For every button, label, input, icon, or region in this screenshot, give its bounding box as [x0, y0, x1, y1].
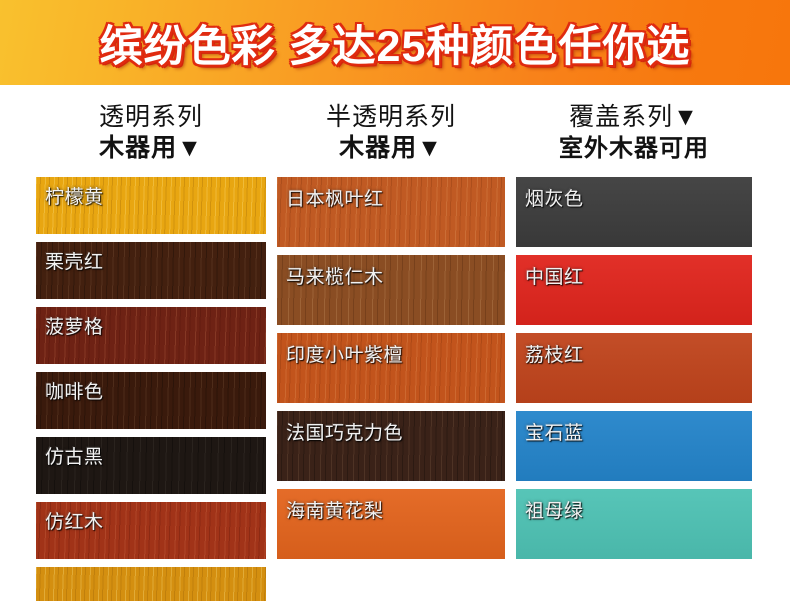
color-swatch[interactable]: 海南黄花梨 — [277, 489, 505, 559]
color-swatch[interactable]: 印度小叶紫檀 — [277, 333, 505, 403]
column-3-heading: 覆盖系列▼ 室外木器可用 — [516, 85, 752, 164]
column-1-heading: 透明系列 木器用▼ — [36, 85, 266, 164]
color-swatch-label: 仿古黑 — [45, 442, 104, 469]
color-swatch-label: 栗壳红 — [45, 247, 104, 274]
color-swatch-label: 中国红 — [525, 262, 584, 289]
color-swatch[interactable]: 荔枝红 — [516, 333, 752, 403]
color-swatch-label: 菠萝格 — [45, 312, 104, 339]
column-1-swatch-list: 柠檬黄栗壳红菠萝格咖啡色仿古黑仿红木 — [36, 177, 266, 601]
promo-banner: 缤纷色彩 多达25种颜色任你选 — [0, 0, 790, 85]
color-swatch[interactable]: 菠萝格 — [36, 307, 266, 364]
column-1-heading-line1: 透明系列 — [36, 102, 266, 133]
color-swatch[interactable] — [36, 567, 266, 601]
column-1-heading-line2: 木器用▼ — [36, 133, 266, 164]
color-swatch[interactable]: 宝石蓝 — [516, 411, 752, 481]
color-swatch-label: 海南黄花梨 — [286, 496, 384, 523]
color-swatch-label: 荔枝红 — [525, 340, 584, 367]
column-opaque-series: 覆盖系列▼ 室外木器可用 烟灰色中国红荔枝红宝石蓝祖母绿 — [516, 85, 752, 567]
color-swatch[interactable]: 日本枫叶红 — [277, 177, 505, 247]
color-swatch-label: 柠檬黄 — [45, 182, 104, 209]
column-2-heading: 半透明系列 木器用▼ — [277, 85, 505, 164]
color-swatch[interactable]: 祖母绿 — [516, 489, 752, 559]
column-2-swatch-list: 日本枫叶红马来榄仁木印度小叶紫檀法国巧克力色海南黄花梨 — [277, 177, 505, 559]
color-swatch-label: 法国巧克力色 — [286, 418, 403, 445]
color-swatch-label: 咖啡色 — [45, 377, 104, 404]
color-columns: 透明系列 木器用▼ 柠檬黄栗壳红菠萝格咖啡色仿古黑仿红木 半透明系列 木器用▼ … — [0, 85, 790, 601]
color-swatch[interactable]: 栗壳红 — [36, 242, 266, 299]
color-swatch[interactable]: 烟灰色 — [516, 177, 752, 247]
column-3-heading-line1: 覆盖系列▼ — [516, 102, 752, 133]
color-swatch-label: 印度小叶紫檀 — [286, 340, 403, 367]
color-swatch[interactable]: 咖啡色 — [36, 372, 266, 429]
column-2-heading-line2: 木器用▼ — [277, 133, 505, 164]
column-3-swatch-list: 烟灰色中国红荔枝红宝石蓝祖母绿 — [516, 177, 752, 559]
column-semitransparent-series: 半透明系列 木器用▼ 日本枫叶红马来榄仁木印度小叶紫檀法国巧克力色海南黄花梨 — [277, 85, 505, 567]
color-swatch-label: 烟灰色 — [525, 184, 584, 211]
column-2-heading-line1: 半透明系列 — [277, 102, 505, 133]
color-swatch[interactable]: 仿古黑 — [36, 437, 266, 494]
color-swatch-label: 宝石蓝 — [525, 418, 584, 445]
color-swatch-label: 马来榄仁木 — [286, 262, 384, 289]
color-swatch-label: 祖母绿 — [525, 496, 584, 523]
column-3-heading-line2: 室外木器可用 — [516, 133, 752, 164]
color-swatch[interactable]: 法国巧克力色 — [277, 411, 505, 481]
color-swatch[interactable]: 中国红 — [516, 255, 752, 325]
color-swatch-label: 仿红木 — [45, 507, 104, 534]
color-swatch[interactable]: 柠檬黄 — [36, 177, 266, 234]
wood-grain-texture — [36, 567, 266, 601]
color-chart-page: 缤纷色彩 多达25种颜色任你选 透明系列 木器用▼ 柠檬黄栗壳红菠萝格咖啡色仿古… — [0, 0, 790, 601]
column-transparent-series: 透明系列 木器用▼ 柠檬黄栗壳红菠萝格咖啡色仿古黑仿红木 — [36, 85, 266, 601]
banner-title: 缤纷色彩 多达25种颜色任你选 — [100, 12, 691, 74]
color-swatch-label: 日本枫叶红 — [286, 184, 384, 211]
color-swatch[interactable]: 仿红木 — [36, 502, 266, 559]
color-swatch[interactable]: 马来榄仁木 — [277, 255, 505, 325]
